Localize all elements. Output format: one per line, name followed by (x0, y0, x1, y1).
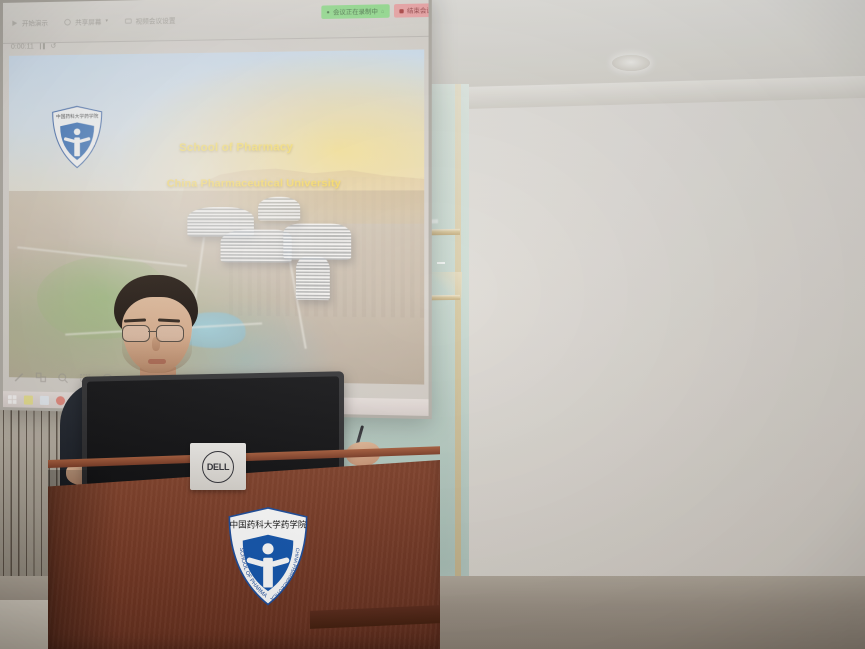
presenter-timer[interactable]: 0:00:11 ↺ (11, 42, 56, 51)
toolbar-label: 开始演示 (22, 17, 48, 28)
campus-building (221, 230, 292, 263)
end-meeting-label: 结束会议 (407, 5, 432, 15)
start-icon[interactable] (8, 395, 17, 404)
recording-label: 会议正在录制中 (333, 7, 378, 17)
slide-title: School of Pharmacy (179, 141, 293, 154)
meeting-app-toolbar[interactable]: 开始演示 共享屏幕 ▾ 视频会议设置 ● 会议正在录制中 ⌂ (3, 0, 432, 44)
toolbar-item-meeting-settings[interactable]: 视频会议设置 (124, 15, 175, 26)
timer-elapsed: 0:00:11 (11, 43, 34, 50)
pen-icon[interactable] (13, 371, 25, 383)
dell-wordmark: DELL (202, 451, 234, 483)
right-wall (455, 92, 865, 649)
podium-shadow (48, 470, 118, 649)
mouth (148, 359, 166, 364)
crest-chinese-name: 中国药科大学药学院 (230, 518, 307, 530)
gold-trim-right (455, 84, 461, 584)
folder-icon[interactable] (40, 395, 49, 404)
recessed-downlight-icon (612, 55, 650, 71)
toolbar-item-share-screen[interactable]: 共享屏幕 ▾ (64, 16, 108, 27)
meeting-status-area: ● 会议正在录制中 ⌂ 结束会议 (321, 3, 432, 19)
gold-trim-corner (432, 272, 462, 298)
play-icon (11, 19, 18, 26)
reset-icon[interactable]: ↺ (50, 42, 56, 50)
end-meeting-button[interactable]: 结束会议 (394, 3, 432, 17)
eyeglasses-right-lens (156, 325, 184, 342)
nose (152, 337, 160, 351)
dell-logo-plate: DELL (190, 443, 246, 490)
pause-icon[interactable] (40, 43, 45, 49)
settings-icon (124, 17, 131, 24)
share-icon (64, 18, 71, 25)
presentation-room-photo: 开始演示 共享屏幕 ▾ 视频会议设置 ● 会议正在录制中 ⌂ (0, 0, 865, 649)
panel-highlight (437, 262, 445, 264)
eyeglasses-left-lens (122, 325, 150, 342)
recording-badge[interactable]: ● 会议正在录制中 ⌂ (321, 4, 389, 19)
file-explorer-icon[interactable] (24, 395, 33, 404)
campus-building (296, 257, 330, 300)
toolbar-item-start-presentation[interactable]: 开始演示 (11, 17, 48, 28)
campus-building (283, 223, 351, 260)
campus-building (258, 197, 300, 220)
stop-icon (399, 9, 403, 13)
toolbar-label: 视频会议设置 (136, 15, 176, 26)
toolbar-label: 共享屏幕 (75, 16, 101, 27)
lock-icon: ⌂ (381, 8, 384, 14)
eyeglasses-bridge (148, 331, 156, 332)
slide-subtitle: China Pharmaceutical University (167, 177, 341, 190)
university-crest-podium: 中国药科大学药学院 SCHOOL OF PHARMACY CHINA PHARM… (222, 505, 314, 609)
record-icon: ● (327, 9, 330, 15)
chevron-down-icon: ▾ (105, 18, 108, 24)
university-crest-slide: 中国药科大学药学院 (49, 103, 106, 172)
slide-grid-icon[interactable] (35, 372, 47, 384)
